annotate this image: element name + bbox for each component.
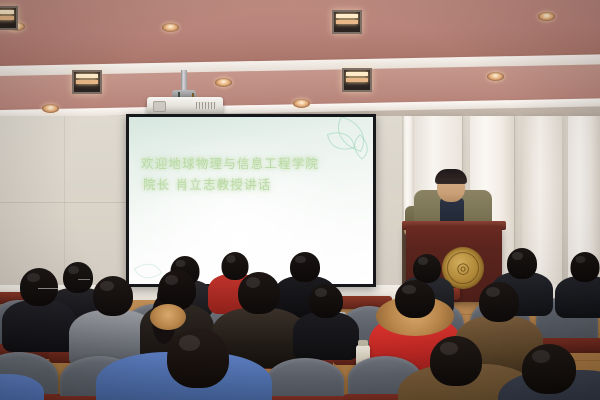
lecture-hall-photo: 欢迎地球物理与信息工程学院 院长 肖立志教授讲话 ◎ (0, 0, 600, 400)
person-head (507, 248, 537, 279)
person-head (413, 254, 441, 283)
downlight-icon (42, 104, 59, 113)
person-head (167, 328, 229, 388)
projector-lens-icon (153, 101, 166, 112)
glasses-icon (438, 181, 464, 187)
person-head (238, 272, 280, 314)
auditorium-seat (266, 358, 344, 400)
projector (147, 97, 223, 114)
audience-member (124, 322, 244, 400)
emblem-glyph: ◎ (456, 259, 469, 277)
slide-line-1: 欢迎地球物理与信息工程学院 (141, 153, 365, 174)
person-head (479, 282, 519, 322)
person-head (395, 280, 435, 318)
audience-member (298, 284, 354, 350)
downlight-icon (538, 12, 555, 21)
downlight-icon (487, 72, 504, 81)
square-ceiling-light-icon (332, 10, 362, 34)
projector-vent (196, 102, 216, 109)
ceiling (0, 0, 600, 118)
downlight-icon (293, 99, 310, 108)
person-head (20, 268, 58, 306)
person-torso (555, 276, 600, 318)
glasses-icon (38, 288, 60, 294)
person-torso (2, 300, 76, 352)
square-ceiling-light-icon (72, 70, 102, 94)
person-head (522, 344, 576, 394)
wall-seam (0, 202, 128, 203)
wall-panel (376, 116, 403, 288)
slide-line-2: 院长 肖立志教授讲话 (141, 174, 365, 195)
downlight-icon (162, 23, 179, 32)
downlight-icon (215, 78, 232, 87)
square-ceiling-light-icon (342, 68, 372, 92)
square-ceiling-light-icon (0, 6, 18, 30)
person-head (571, 252, 600, 282)
person-head (309, 284, 343, 318)
audience-member (560, 252, 600, 310)
person-head (93, 276, 133, 316)
audience-member (520, 344, 600, 400)
person-torso (293, 312, 359, 360)
audience-member (0, 356, 30, 400)
audience-member (8, 268, 70, 338)
person-head (430, 336, 482, 386)
slide-text: 欢迎地球物理与信息工程学院 院长 肖立志教授讲话 (141, 153, 365, 195)
